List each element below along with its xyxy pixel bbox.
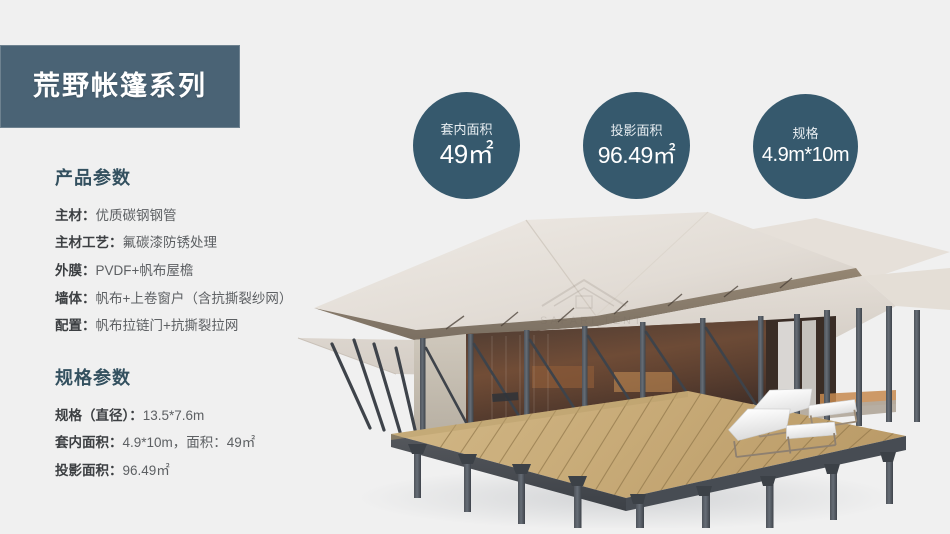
stat-badges: 套内面积 49㎡ 投影面积 96.49㎡ 规格 4.9m*10m [413, 92, 873, 202]
tent-render-image [296, 198, 950, 528]
spec-label: 配置： [55, 318, 96, 333]
spec-value: 4.9*10m，面积：49㎡ [123, 435, 256, 450]
spec-value: 帆布拉链门+抗撕裂拉网 [96, 318, 239, 333]
stat-badge-dimensions: 规格 4.9m*10m [753, 94, 858, 199]
tent-illustration: SAFARI TENT [296, 198, 950, 528]
spec-label: 套内面积： [55, 435, 123, 450]
spec-value: 帆布+上卷窗户（含抗撕裂纱网） [96, 291, 293, 306]
spec-value: 氟碳漆防锈处理 [123, 235, 218, 250]
stat-label: 投影面积 [610, 124, 662, 138]
stat-label: 规格 [792, 127, 818, 141]
spec-value: 96.49㎡ [123, 463, 170, 478]
page-title: 荒野帐篷系列 [33, 73, 207, 100]
stat-label: 套内面积 [440, 123, 492, 137]
spec-label: 投影面积： [55, 463, 123, 478]
spec-label: 外膜： [55, 263, 96, 278]
spec-label: 规格（直径）： [55, 408, 143, 423]
spec-label: 主材： [55, 208, 96, 223]
spec-label: 墙体： [55, 291, 96, 306]
title-banner: 荒野帐篷系列 [0, 45, 240, 128]
stat-value: 4.9m*10m [762, 145, 849, 166]
slide-root: 荒野帐篷系列 产品参数 主材：优质碳钢钢管 主材工艺：氟碳漆防锈处理 外膜：PV… [0, 0, 950, 534]
stat-value: 96.49㎡ [598, 143, 676, 167]
spec-value: 13.5*7.6m [143, 408, 205, 423]
spec-value: 优质碳钢钢管 [96, 208, 177, 223]
stat-badge-projected-area: 投影面积 96.49㎡ [583, 92, 690, 199]
stat-badge-interior-area: 套内面积 49㎡ [413, 92, 520, 199]
stat-value: 49㎡ [440, 141, 493, 168]
spec-label: 主材工艺： [55, 235, 123, 250]
product-params-heading: 产品参数 [55, 168, 355, 190]
spec-value: PVDF+帆布屋檐 [96, 263, 194, 278]
